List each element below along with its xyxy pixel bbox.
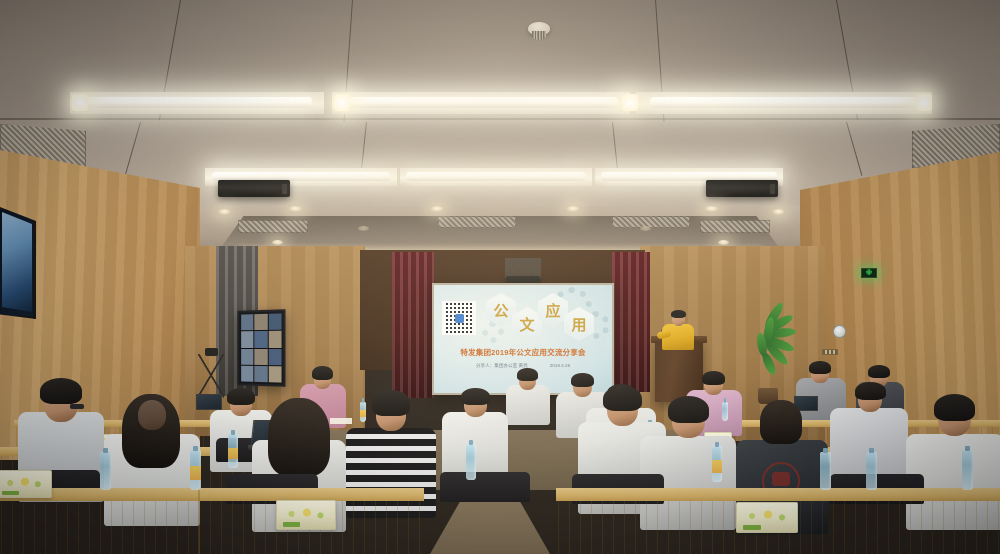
attendee-laptop-screen[interactable] [196,394,222,410]
fluorescent-tube-far-left [86,97,312,108]
light-end-cap-3 [622,94,638,111]
tissue-box[interactable] [736,502,798,533]
video-tile [255,314,268,331]
qr-code-icon[interactable] [442,301,476,335]
conference-room-photo: ✙ [0,0,1000,554]
tee-graphic-face [772,472,790,486]
downlight-4 [430,206,444,212]
downlight-5 [566,206,580,212]
video-tile [255,348,268,364]
slide-hex-char-2: 文 [512,307,542,341]
slide-presenter-line: 分享人：集团办公室 黄亮 [476,363,528,369]
video-tile [268,349,281,366]
water-bottle[interactable] [866,452,877,490]
downlight-10 [718,240,729,245]
table-row-1-left-top [0,488,424,501]
water-bottle[interactable] [820,452,831,490]
video-tile [268,366,281,383]
downlight-2 [288,206,303,212]
ceiling-speaker-right [706,180,778,197]
fluorescent-tube-near-mid [406,172,586,181]
water-bottle[interactable] [228,434,238,468]
light-end-cap-4 [916,94,932,111]
video-tile [241,331,254,347]
water-bottle[interactable] [360,402,366,422]
table-seam [198,488,200,554]
red-curtain-right [612,252,650,392]
eyeglasses-icon [70,404,84,409]
side-wall-monitor-screen [2,212,32,312]
red-curtain-left [392,252,434,398]
fluorescent-tube-far-mid [346,97,618,108]
slide-date: 2019.4.25 [550,363,570,369]
water-bottle[interactable] [190,450,201,490]
light-end-cap-2 [334,94,350,111]
downlight-1 [218,209,231,215]
table-row-1-left [0,496,420,554]
video-tile [268,313,281,330]
water-bottle[interactable] [722,402,728,421]
camera-tripod [198,354,224,398]
water-bottle[interactable] [466,444,476,480]
tissue-box[interactable] [0,470,52,498]
soffit-vent-mid-right [612,216,690,228]
fluorescent-tube-far-right [650,97,918,108]
exit-cross-icon: ✙ [866,269,873,277]
video-conference-display[interactable] [237,309,285,387]
chair[interactable] [440,472,530,502]
wall-outlet-panel[interactable] [822,349,838,355]
emergency-exit-sign: ✙ [861,268,877,278]
video-tile [268,331,281,348]
downlight-9 [272,240,283,245]
potted-palm-plant [744,318,792,392]
video-tile [241,314,254,330]
video-tile [255,366,268,383]
downlight-8 [772,209,785,215]
video-tile [241,365,254,381]
ceiling-speaker-left [218,180,290,197]
video-tile-grid [241,313,281,382]
video-tile [255,331,268,347]
soffit-vent-right [700,220,770,233]
paper-document [330,418,352,424]
soffit-vent-left [238,220,308,233]
downlight-6 [640,226,651,231]
video-tile [241,348,254,364]
table-row-1-right-top [556,488,1000,501]
downlight-7 [704,206,719,212]
projector-scissor-mount [505,258,541,278]
downlight-3 [358,226,369,231]
ceiling-seam-main [0,118,1000,120]
smoke-detector-icon [528,22,550,35]
soffit-vent-mid [438,216,516,228]
water-bottle[interactable] [100,452,111,490]
water-bottle[interactable] [712,446,722,482]
tissue-box[interactable] [276,500,336,530]
presenter-hair [671,310,686,318]
water-bottle[interactable] [962,450,973,490]
slide-title: 特发集团2019年公文应用交流分享会 [434,347,612,358]
wall-clock-icon [833,325,846,338]
light-end-cap-1 [72,94,88,111]
